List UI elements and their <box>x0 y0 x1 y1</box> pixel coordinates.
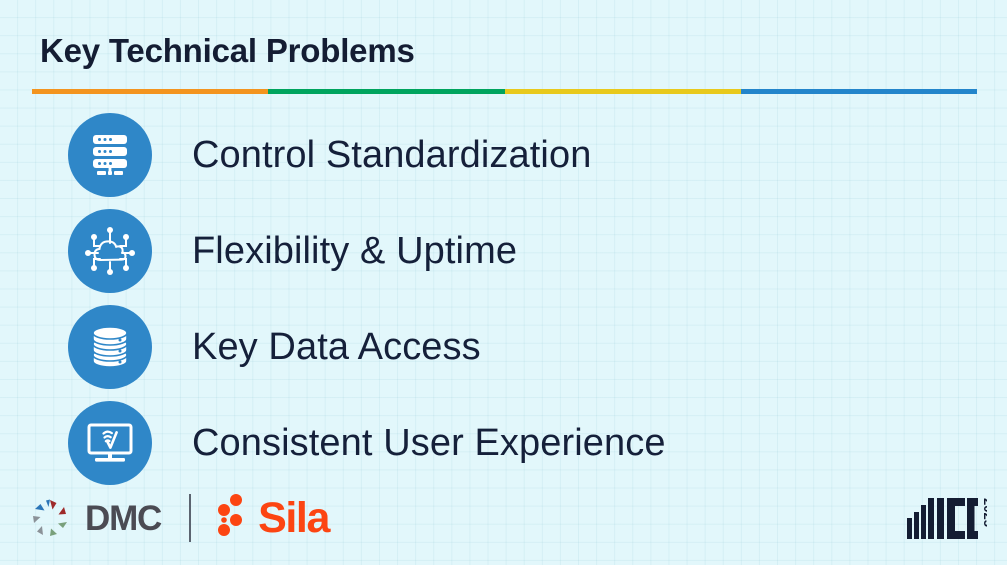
list-item: Control Standardization <box>68 107 968 203</box>
list-item-label: Key Data Access <box>192 328 481 366</box>
accent-rule-segment-blue <box>741 89 977 94</box>
accent-rule-segment-yellow <box>505 89 741 94</box>
list-item-label: Control Standardization <box>192 136 591 174</box>
slide-title: Key Technical Problems <box>40 32 415 70</box>
list-item: Consistent User Experience <box>68 395 968 491</box>
dmc-pinwheel-icon <box>28 496 72 540</box>
list-item: Flexibility & Uptime <box>68 203 968 299</box>
dmc-wordmark: DMC <box>85 501 161 536</box>
list-item-label: Flexibility & Uptime <box>192 232 517 270</box>
footer-divider <box>189 494 191 542</box>
accent-rule <box>32 89 977 94</box>
database-icon <box>68 305 152 389</box>
accent-rule-segment-orange <box>32 89 268 94</box>
icc-year-text: 2025 <box>981 498 987 527</box>
server-rack-icon <box>68 113 152 197</box>
icc-2025-logo-icon: 2025 <box>907 492 987 542</box>
sila-wordmark: Sila <box>258 497 329 540</box>
accent-rule-segment-green <box>268 89 504 94</box>
monitor-wifi-check-icon <box>68 401 152 485</box>
list-item-label: Consistent User Experience <box>192 424 666 462</box>
slide-canvas: Key Technical Problems <box>0 0 1007 565</box>
cloud-network-icon <box>68 209 152 293</box>
sila-dots-icon <box>217 493 249 543</box>
problem-list: Control Standardization <box>68 107 968 491</box>
footer-logos: DMC Sila <box>28 490 329 546</box>
list-item: Key Data Access <box>68 299 968 395</box>
